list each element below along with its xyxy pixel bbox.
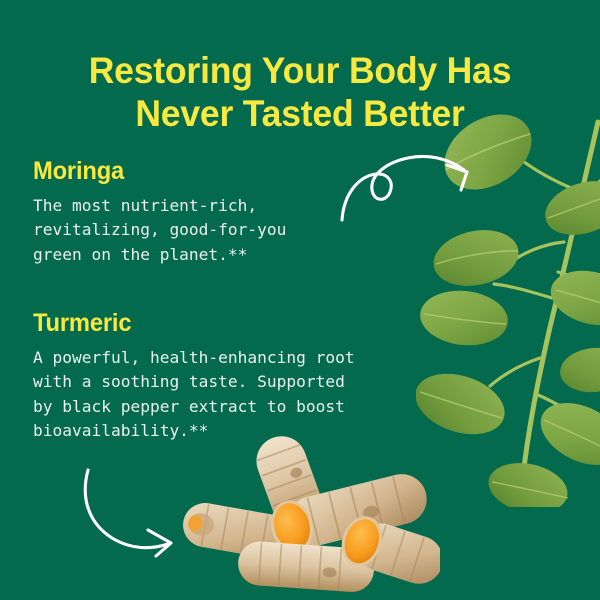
page-title: Restoring Your Body Has Never Tasted Bet… (12, 49, 588, 136)
headline-line-1: Restoring Your Body Has (12, 49, 588, 93)
curly-arrow-icon (330, 132, 485, 227)
headline-line-2: Never Tasted Better (12, 92, 588, 136)
curved-arrow-icon (72, 462, 202, 562)
section-title-turmeric: Turmeric (33, 310, 339, 338)
section-body-turmeric: A powerful, health-enhancing root with a… (33, 346, 355, 445)
section-title-moringa: Moringa (33, 158, 274, 186)
section-body-moringa: The most nutrient-rich, revitalizing, go… (33, 194, 286, 268)
moringa-leaf-sprig-image (416, 112, 600, 507)
section-moringa: Moringa The most nutrient-rich, revitali… (33, 158, 286, 267)
section-turmeric: Turmeric A powerful, health-enhancing ro… (33, 310, 355, 444)
product-benefits-poster: Restoring Your Body Has Never Tasted Bet… (0, 0, 600, 600)
turmeric-root-image (180, 425, 440, 600)
